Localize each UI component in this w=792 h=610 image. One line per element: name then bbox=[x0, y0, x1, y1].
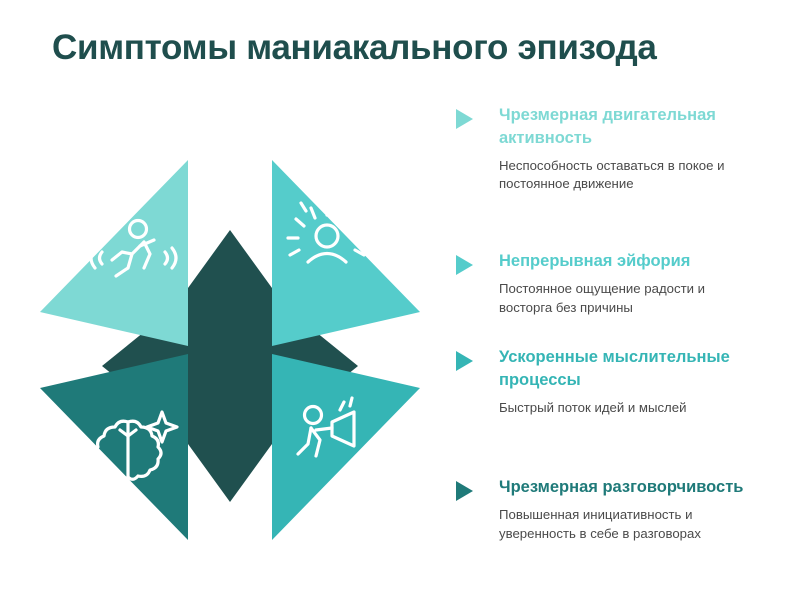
list-item-heading: Ускоренные мыслительные процессы bbox=[499, 346, 756, 392]
symptom-list: Чрезмерная двигательная активность Неспо… bbox=[456, 104, 756, 594]
list-item: Чрезмерная двигательная активность Неспо… bbox=[456, 104, 756, 194]
triangle-top-left bbox=[40, 160, 188, 346]
list-item-body: Чрезмерная разговорчивость Повышенная ин… bbox=[499, 476, 756, 543]
list-item-description: Быстрый поток идей и мыслей bbox=[499, 399, 756, 418]
list-item-body: Ускоренные мыслительные процессы Быстрый… bbox=[499, 346, 756, 417]
list-item-description: Неспособность оставаться в покое и посто… bbox=[499, 157, 756, 194]
triangle-right-icon bbox=[456, 481, 473, 501]
infographic-page: Симптомы маниакального эпизода bbox=[0, 0, 792, 610]
list-item-description: Постоянное ощущение радости и восторга б… bbox=[499, 280, 756, 317]
triangle-bottom-left bbox=[40, 354, 188, 540]
list-item-body: Чрезмерная двигательная активность Неспо… bbox=[499, 104, 756, 194]
triangle-bottom-right bbox=[272, 354, 420, 540]
triangle-right-icon bbox=[456, 255, 473, 275]
list-item-heading: Чрезмерная двигательная активность bbox=[499, 104, 756, 150]
triangle-top-right bbox=[272, 160, 420, 346]
list-item: Ускоренные мыслительные процессы Быстрый… bbox=[456, 346, 756, 417]
list-item-heading: Чрезмерная разговорчивость bbox=[499, 476, 756, 499]
list-item-body: Непрерывная эйфория Постоянное ощущение … bbox=[499, 250, 756, 317]
symptom-diagram bbox=[40, 160, 420, 540]
list-item: Непрерывная эйфория Постоянное ощущение … bbox=[456, 250, 756, 317]
list-item: Чрезмерная разговорчивость Повышенная ин… bbox=[456, 476, 756, 543]
list-item-description: Повышенная инициативность и уверенность … bbox=[499, 506, 756, 543]
page-title: Симптомы маниакального эпизода bbox=[52, 28, 752, 68]
triangle-right-icon bbox=[456, 351, 473, 371]
list-item-heading: Непрерывная эйфория bbox=[499, 250, 756, 273]
triangle-right-icon bbox=[456, 109, 473, 129]
